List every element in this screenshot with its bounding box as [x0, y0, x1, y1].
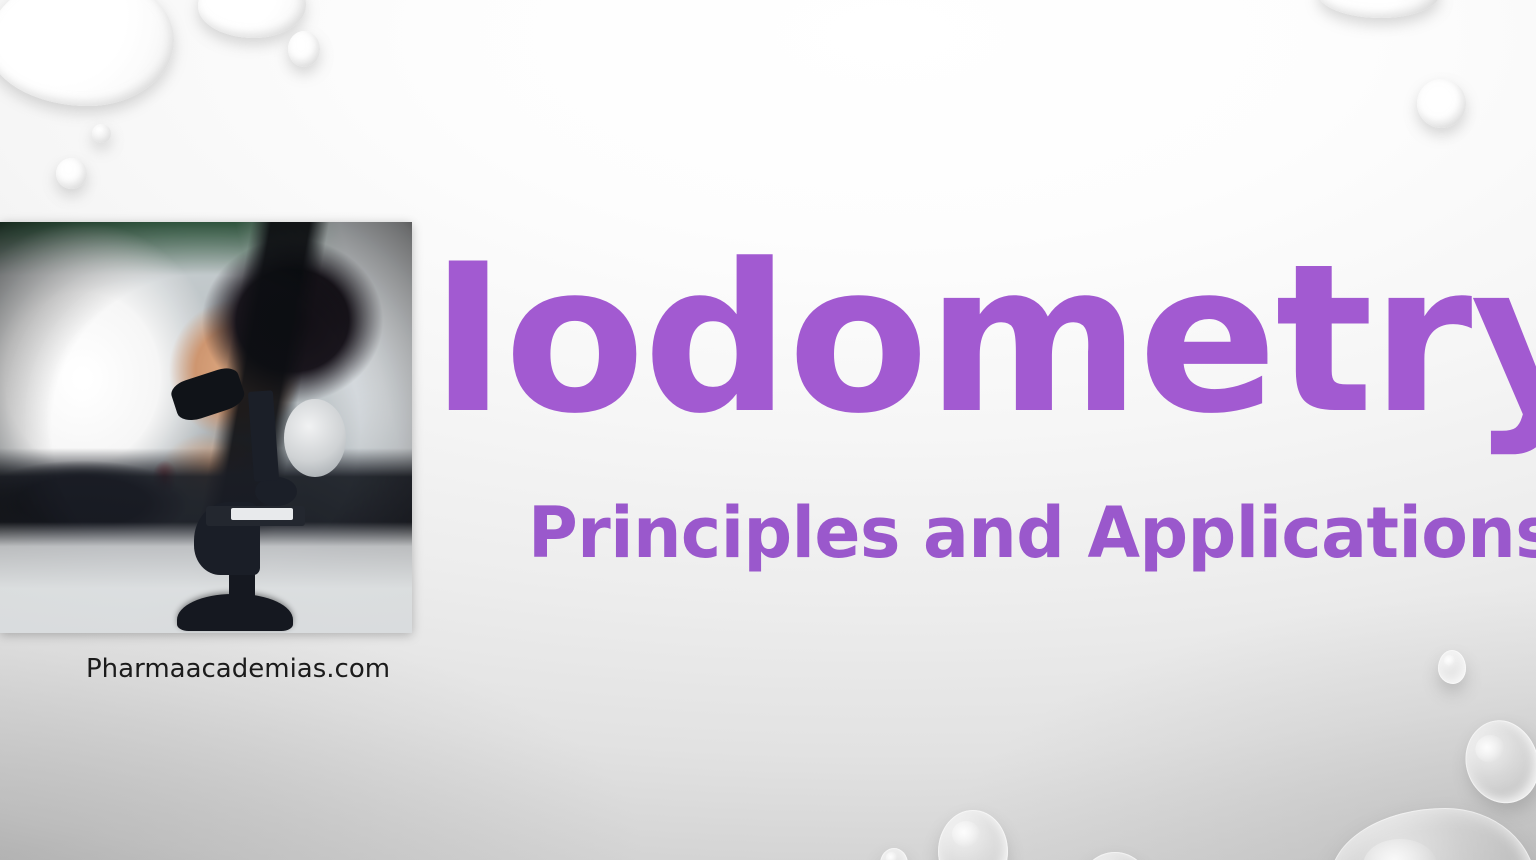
presentation-slide: Iodometry Principles and Applications Ph…	[0, 0, 1536, 860]
water-droplet-bubble	[92, 124, 111, 143]
source-caption: Pharmaacademias.com	[86, 656, 390, 682]
water-droplet-bubble	[1438, 650, 1466, 684]
water-droplet-bubble	[0, 0, 174, 106]
slide-title: Iodometry	[430, 238, 1530, 443]
water-droplet-bubble	[1417, 79, 1466, 128]
water-droplet-bubble	[1080, 852, 1150, 860]
water-droplet-blob	[1330, 808, 1536, 860]
microscope-mirror	[284, 399, 346, 477]
slide-subtitle: Principles and Applications	[528, 498, 1536, 568]
water-droplet-bubble	[880, 848, 908, 860]
water-droplet-bubble	[288, 31, 320, 67]
water-droplet-bubble	[1318, 0, 1440, 18]
water-droplet-bubble	[56, 158, 87, 189]
student-microscope-photo	[0, 222, 412, 633]
water-droplet-bubble	[1455, 711, 1536, 813]
water-droplet-bubble	[198, 0, 306, 38]
microscope-slide-plate	[231, 508, 293, 520]
water-droplet-bubble	[938, 810, 1008, 860]
